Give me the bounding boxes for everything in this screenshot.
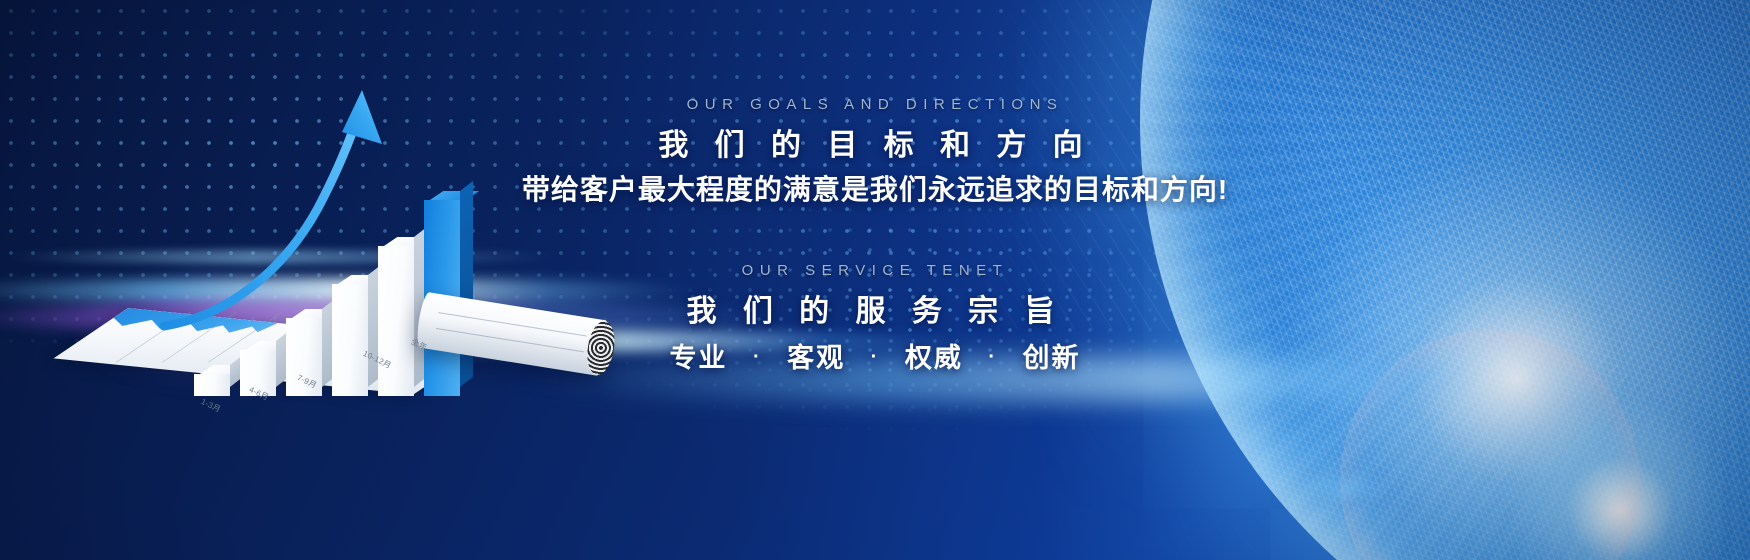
banner-copy: OUR GOALS AND DIRECTIONS 我 们 的 目 标 和 方 向… [0,0,1750,560]
tenet-word-4: 创新 [1021,343,1083,373]
tenet-eyebrow: OUR SERVICE TENET [0,262,1750,279]
goals-subtitle: 带给客户最大程度的满意是我们永远追求的目标和方向! [0,168,1750,208]
tenet-word-1: 专业 [667,343,729,373]
tenet-separator: · [974,346,1011,368]
tenet-separator: · [857,346,894,368]
tenet-word-list: 专业 · 客观 · 权威 · 创新 [0,336,1750,375]
goals-eyebrow: OUR GOALS AND DIRECTIONS [0,96,1750,113]
tenet-heading: 我 们 的 服 务 宗 旨 [0,286,1750,330]
goals-heading: 我 们 的 目 标 和 方 向 [0,120,1750,164]
tenet-separator: · [739,346,776,368]
promo-banner: 1-3月 4-6月 7-9月 10-12月 全年 OUR GOALS AND D… [0,0,1750,560]
tenet-word-2: 客观 [785,343,847,373]
tenet-word-3: 权威 [903,343,965,373]
